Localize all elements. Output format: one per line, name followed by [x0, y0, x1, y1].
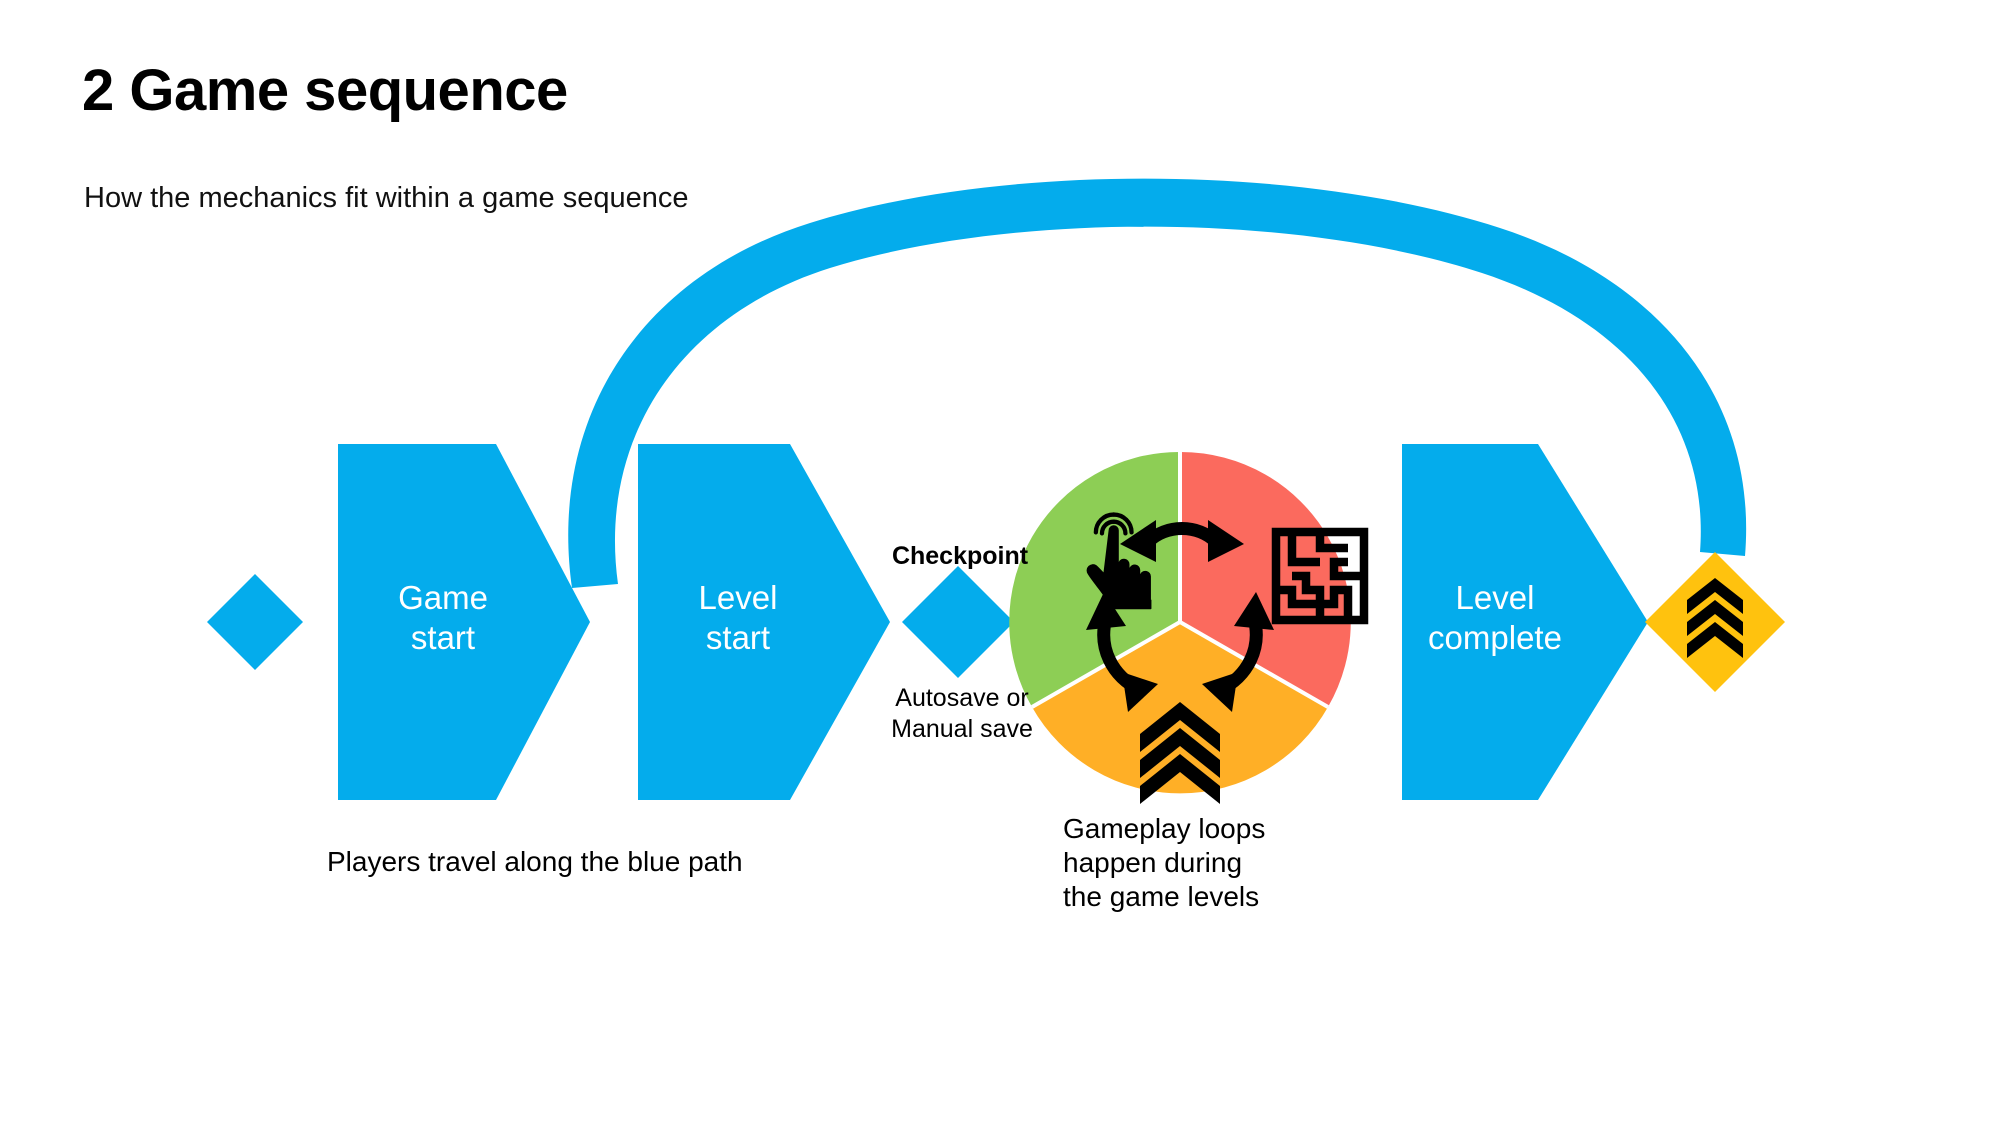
step-label-level-complete: Level complete: [1402, 578, 1588, 659]
step-label-level-start: Level start: [638, 578, 838, 659]
level-up-diamond: [1645, 552, 1785, 692]
checkpoint-diamond: [902, 566, 1014, 678]
checkpoint-title: Checkpoint: [880, 541, 1040, 572]
step-label-game-start: Game start: [338, 578, 548, 659]
slide-canvas: 2 Game sequence How the mechanics fit wi…: [0, 0, 2000, 1125]
checkpoint-subtitle: Autosave or Manual save: [862, 683, 1062, 746]
gameplay-loop-caption: Gameplay loops happen during the game le…: [1063, 812, 1265, 914]
start-diamond: [207, 574, 303, 670]
blue-path-caption: Players travel along the blue path: [327, 845, 743, 879]
